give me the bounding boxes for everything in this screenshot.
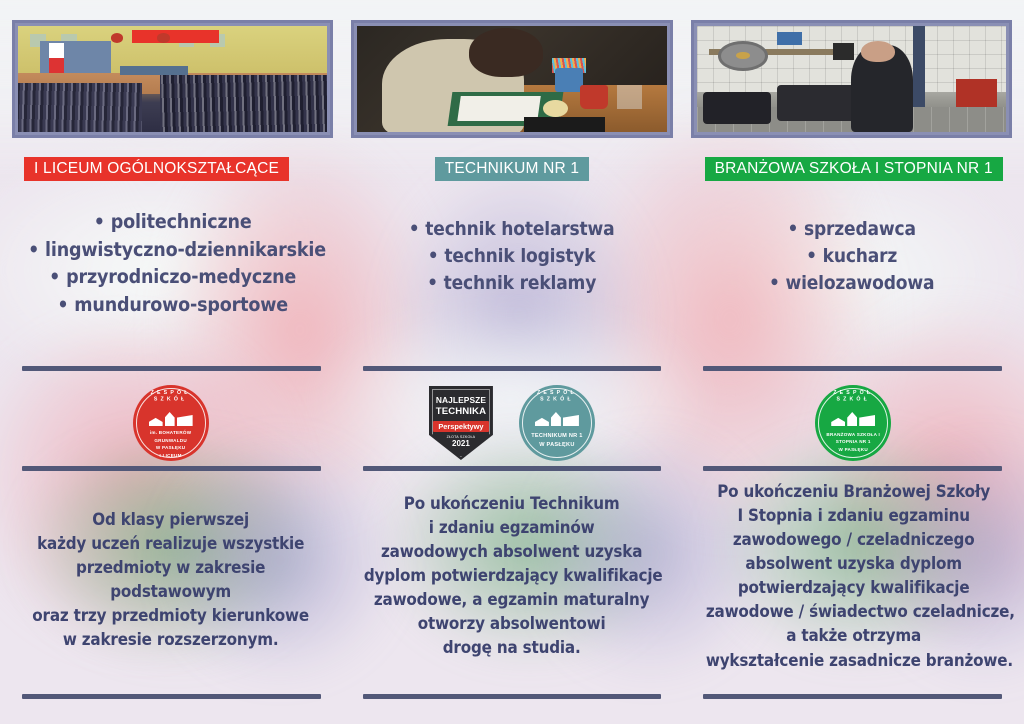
column-technikum: TECHNIKUM NR 1 • technik hotelarstwa • t… [341,0,682,319]
profile-item: • technik logistyk [367,243,656,270]
paragraph-liceum: Od klasy pierwszej każdy uczeń realizuje… [0,478,341,673]
divider-line [22,366,321,371]
student-desk-photo [351,20,672,138]
seal-name-line: W PASŁĘKU [522,441,592,450]
logos-liceum: ZESPÓŁ SZKÓŁ im. BOHATERÓW GRUNWALDU W P… [0,382,341,464]
profiles-liceum: • politechniczne • lingwistyczno-dzienni… [28,208,317,319]
paragraph-line: I Stopnia i zdaniu egzaminu [705,504,1001,528]
paragraph-line: drogę na studia. [364,636,660,660]
seal-name-line: W PASŁĘKU [818,446,888,454]
paragraph-line: dyplom potwierdzający kwalifikacje [364,564,660,588]
divider-line [363,466,660,471]
divider-line [363,366,660,371]
school-seal-liceum: ZESPÓŁ SZKÓŁ im. BOHATERÓW GRUNWALDU W P… [133,385,209,461]
divider-line [703,694,1002,699]
perspektywy-badge: NAJLEPSZE TECHNIKA Perspektywy ZŁOTA SZK… [429,386,493,460]
paragraph-line: oraz trzy przedmioty kierunkowe [23,604,319,628]
banner-branzowa: BRANŻOWA SZKOŁA I STOPNIA NR 1 [705,157,1003,182]
paragraph-line: potwierdzający kwalifikacje [705,576,1001,600]
perspektywy-label: Perspektywy [433,421,488,432]
paragraph-line: Po ukończeniu Technikum [364,492,660,516]
paragraph-line: każdy uczeń realizuje wszystkie [23,532,319,556]
paragraph-line: i zdaniu egzaminów [364,516,660,540]
paragraph-line: podstawowym [23,580,319,604]
logos-technikum: NAJLEPSZE TECHNIKA Perspektywy ZŁOTA SZK… [341,382,682,464]
column-branzowa: BRANŻOWA SZKOŁA I STOPNIA NR 1 • sprzeda… [683,0,1024,319]
paragraphs-row: Od klasy pierwszej każdy uczeń realizuje… [0,478,1024,673]
paragraph-line: w zakresie rozszerzonym. [23,628,319,652]
divider-row-top [0,366,1024,371]
paragraph-line: absolwent uzyska dyplom [705,552,1001,576]
profile-item: • politechniczne [28,208,317,236]
profile-item: • kucharz [707,243,996,270]
school-seal-technikum: ZESPÓŁ SZKÓŁ TECHNIKUM NR 1 W PASŁĘKU [519,385,595,461]
logos-row: ZESPÓŁ SZKÓŁ im. BOHATERÓW GRUNWALDU W P… [0,382,1024,464]
paragraph-line: Po ukończeniu Branżowej Szkoły [705,480,1001,504]
paragraph-line: zawodowe, a egzamin maturalny [364,588,660,612]
divider-row-bottom [0,694,1024,699]
column-liceum: I LICEUM OGÓLNOKSZTAŁCĄCE • politechnicz… [0,0,341,319]
paragraph-line: zawodowych absolwent uzyska [364,540,660,564]
school-seal-branzowa: ZESPÓŁ SZKÓŁ BRANŻOWA SZKOŁA I STOPNIA N… [815,385,891,461]
paragraph-line: a także otrzyma [705,624,1001,648]
divider-line [22,694,321,699]
profile-item: • lingwistyczno-dziennikarskie [28,236,317,264]
paragraph-line: otworzy absolwentowi [364,612,660,636]
logos-branzowa: ZESPÓŁ SZKÓŁ BRANŻOWA SZKOŁA I STOPNIA N… [683,382,1024,464]
profile-item: • przyrodniczo-medyczne [28,263,317,291]
profile-item: • technik hotelarstwa [367,216,656,243]
paragraph-line: Od klasy pierwszej [23,508,319,532]
poster: I LICEUM OGÓLNOKSZTAŁCĄCE • politechnicz… [0,0,1024,724]
profile-item: • mundurowo-sportowe [28,291,317,319]
divider-line [703,466,1002,471]
paragraph-line: zawodowego / czeladniczego [705,528,1001,552]
profile-item: • technik reklamy [367,270,656,297]
divider-line [703,366,1002,371]
school-assembly-photo [12,20,333,138]
columns-row: I LICEUM OGÓLNOKSZTAŁCĄCE • politechnicz… [0,0,1024,319]
paragraph-technikum: Po ukończeniu Technikum i zdaniu egzamin… [341,478,682,673]
seal-name-line: BRANŻOWA SZKOŁA I STOPNIA NR 1 [818,431,888,446]
divider-row-mid [0,466,1024,471]
banner-liceum: I LICEUM OGÓLNOKSZTAŁCĄCE [24,157,289,182]
profiles-technikum: • technik hotelarstwa • technik logistyk… [367,216,656,297]
workshop-photo [691,20,1012,138]
paragraph-line: wykształcenie zasadnicze branżowe. [705,649,1001,673]
seal-name-line: W PASŁĘKU [136,444,206,452]
profiles-branzowa: • sprzedawca • kucharz • wielozawodowa [707,216,996,297]
seal-name-line: im. BOHATERÓW GRUNWALDU [136,429,206,444]
divider-line [22,466,321,471]
paragraph-line: przedmioty w zakresie [23,556,319,580]
divider-line [363,694,660,699]
banner-technikum: TECHNIKUM NR 1 [435,157,590,182]
seal-name-line: TECHNIKUM NR 1 [522,432,592,441]
paragraph-branzowa: Po ukończeniu Branżowej Szkoły I Stopnia… [683,478,1024,673]
profile-item: • wielozawodowa [707,270,996,297]
badge-year: 2021 [452,439,470,448]
seal-name-line: I LICEUM OGÓLNOKSZTAŁCĄCE [136,452,206,461]
paragraph-line: zawodowe / świadectwo czeladnicze, [705,600,1001,624]
profile-item: • sprzedawca [707,216,996,243]
